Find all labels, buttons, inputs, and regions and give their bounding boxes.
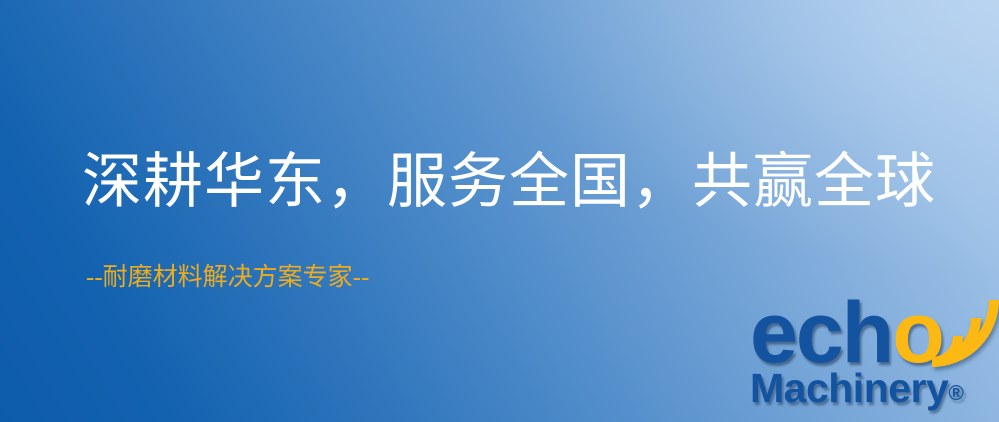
promo-banner: 深耕华东，服务全国，共赢全球 --耐磨材料解决方案专家-- echo Machi… xyxy=(0,0,999,422)
registered-trademark-icon: ® xyxy=(948,382,963,405)
signal-arcs-icon xyxy=(926,294,999,368)
banner-headline: 深耕华东，服务全国，共赢全球 xyxy=(82,152,936,212)
logo-tagline: Machinery® xyxy=(750,368,964,409)
logo-tagline-text: Machinery xyxy=(750,365,948,411)
logo-echo-text: echo xyxy=(750,290,943,376)
banner-subtitle: --耐磨材料解决方案专家-- xyxy=(86,265,369,290)
echo-machinery-logo: echo Machinery® xyxy=(748,294,999,422)
